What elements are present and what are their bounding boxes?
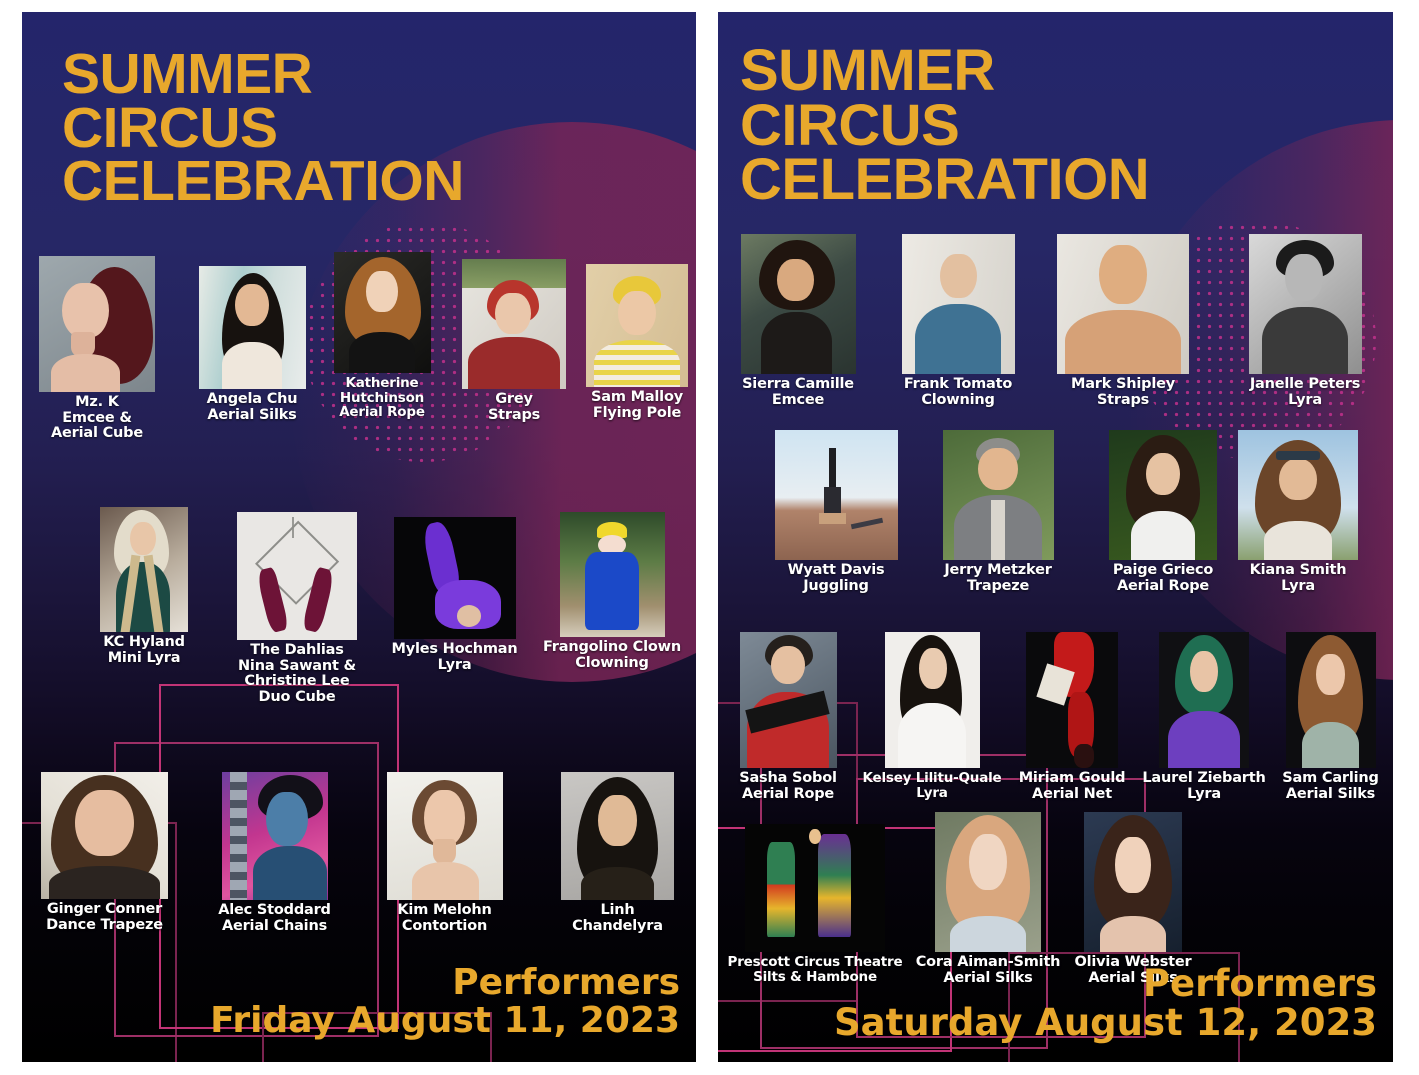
performer-card: Katherine Hutchinson Aerial Rope [302,252,462,420]
performer-name: Sierra Camille [742,376,854,392]
performer-photo [462,259,566,389]
poster-footer: Performers Friday August 11, 2023 [210,964,680,1040]
performer-photo [560,512,665,637]
portrait-art [745,824,885,952]
performer-photo [885,632,980,768]
performer-act: Juggling [803,578,869,594]
performer-name: Katherine Hutchinson [340,375,424,406]
portrait-art [222,772,328,900]
poster-title: SUMMER CIRCUS CELEBRATION [62,48,464,209]
portrait-art [237,512,357,640]
portrait-art [1026,632,1118,768]
performer-photo [745,824,885,952]
performer-name: Paige Grieco [1113,562,1213,578]
performer-card: Frank Tomato Clowning [888,234,1028,408]
portrait-art [1249,234,1362,374]
performer-caption: Frangolino Clown Clowning [543,640,681,671]
performer-caption: Kim Melohn Contortion [397,903,491,934]
performer-act: Dance Trapeze [46,917,163,933]
portrait-art [1109,430,1217,560]
performer-name: Sam Carling [1282,770,1378,786]
performer-act: Contortion [402,918,487,934]
performer-photo [935,812,1041,952]
performer-photo [237,512,357,640]
performer-photo [222,772,328,900]
performer-caption: Ginger Conner Dance Trapeze [46,902,163,933]
performer-act: Trapeze [967,578,1029,594]
performer-name: Wyatt Davis [788,562,885,578]
performer-photo [1238,430,1358,560]
portrait-art [1286,632,1376,768]
performer-card: Wyatt Davis Juggling [766,430,906,594]
performer-card: Laurel Ziebarth Lyra [1140,632,1268,802]
performer-card: Miriam Gould Aerial Net [1008,632,1136,802]
portrait-art [740,632,837,768]
performer-caption: Alec Stoddard Aerial Chains [218,903,330,934]
performer-card: Cora Aiman-Smith Aerial Silks [913,812,1063,986]
performer-act: Clowning [921,392,994,408]
performer-caption: Sam Malloy Flying Pole [591,390,683,421]
performer-act: Lyra [1288,392,1322,408]
performer-act: Emcee [772,392,824,408]
performer-card: Prescott Circus Theatre Silts & Hambone [726,824,904,984]
performer-card: Ginger Conner Dance Trapeze [37,772,172,933]
portrait-art [586,264,688,387]
performer-card: Jerry Metzker Trapeze [928,430,1068,594]
portrait-art [1238,430,1358,560]
performer-caption: Linh Chandelyra [572,903,663,934]
performer-photo [387,772,503,900]
performer-card: Grey Straps [454,259,574,423]
performer-photo [334,252,431,373]
portrait-art [39,256,155,392]
performer-card: Kim Melohn Contortion [377,772,512,934]
performer-act: Chandelyra [572,918,663,934]
performer-caption: Laurel Ziebarth Lyra [1142,771,1265,802]
performer-name: Mz. K [75,394,119,410]
performer-photo [199,266,306,389]
performer-caption: Wyatt Davis Juggling [788,563,885,594]
performer-photo [1084,812,1182,952]
performer-photo [1109,430,1217,560]
performer-caption: The Dahlias Nina Sawant & Christine Lee … [238,643,356,706]
performer-act: Aerial Rope [1117,578,1209,594]
portrait-art [1084,812,1182,952]
performer-name: Sasha Sobol [739,770,837,786]
performer-card: Linh Chandelyra [550,772,685,934]
performer-act: Aerial Net [1032,786,1112,802]
portrait-art [394,517,516,639]
performer-photo [394,517,516,639]
performer-caption: Sasha Sobol Aerial Rope [739,771,837,802]
performer-name: The Dahlias [250,642,343,658]
performer-act: Straps [488,407,540,423]
performer-name: Laurel Ziebarth [1142,770,1265,786]
performer-act: Aerial Chains [222,918,327,934]
performer-card: Mark Shipley Straps [1048,234,1198,408]
performer-name: Ginger Conner [47,901,162,917]
performer-act: Mini Lyra [108,650,181,666]
performer-photo [740,632,837,768]
friday-poster: SUMMER CIRCUS CELEBRATION Mz. K Emcee & … [22,12,696,1062]
portrait-art [41,772,168,899]
footer-performers-label: Performers [834,964,1377,1003]
performer-act: Aerial Rope [742,786,834,802]
performer-card: Janelle Peters Lyra [1235,234,1375,408]
performer-card: Kiana Smith Lyra [1228,430,1368,594]
saturday-poster: SUMMER CIRCUS CELEBRATION Sierra Camille… [718,12,1393,1062]
performer-caption: Sierra Camille Emcee [742,377,854,408]
performer-photo [39,256,155,392]
performer-caption: Janelle Peters Lyra [1250,377,1360,408]
performer-caption: Kelsey Lilitu-Quale Lyra [862,771,1001,800]
performer-photo [775,430,898,560]
performer-caption: Katherine Hutchinson Aerial Rope [302,376,462,420]
performer-name: Miriam Gould [1019,770,1126,786]
performer-card: Sam Malloy Flying Pole [577,264,696,421]
portrait-art [943,430,1054,560]
performer-name: Grey [495,391,533,407]
performer-name: Angela Chu [207,391,298,407]
portrait-art [387,772,503,900]
performer-name: Linh [600,902,634,918]
performer-card: Olivia Webster Aerial Silks [1063,812,1203,986]
performer-photo [586,264,688,387]
performer-name: Kim Melohn [397,902,491,918]
performer-caption: KC Hyland Mini Lyra [103,635,185,666]
performer-card: Alec Stoddard Aerial Chains [207,772,342,934]
portrait-art [902,234,1015,374]
portrait-art [741,234,856,374]
performer-card: The Dahlias Nina Sawant & Christine Lee … [227,512,367,706]
portrait-art [334,252,431,373]
performer-caption: Kiana Smith Lyra [1250,563,1347,594]
performer-name: Frank Tomato [904,376,1012,392]
performer-name: Mark Shipley [1071,376,1175,392]
performer-card: Sam Carling Aerial Silks [1268,632,1393,802]
performer-card: Paige Grieco Aerial Rope [1093,430,1233,594]
performer-photo [1249,234,1362,374]
portrait-art [561,772,674,900]
portrait-art [1159,632,1249,768]
performer-photo [1159,632,1249,768]
performer-act: Lyra [916,785,947,801]
footer-performers-label: Performers [210,964,680,1002]
portrait-art [100,507,188,632]
performer-act: Emcee & Aerial Cube [51,410,143,442]
performer-caption: Mark Shipley Straps [1071,377,1175,408]
performer-card: Angela Chu Aerial Silks [192,266,312,423]
performer-act: Aerial Rope [339,404,425,420]
portrait-art [775,430,898,560]
performer-card: Sierra Camille Emcee [728,234,868,408]
performer-act: Flying Pole [593,405,681,421]
performer-photo [902,234,1015,374]
performer-name: Janelle Peters [1250,376,1360,392]
poster-pair-canvas: SUMMER CIRCUS CELEBRATION Mz. K Emcee & … [0,0,1419,1075]
performer-photo [1026,632,1118,768]
performer-card: Kelsey Lilitu-Quale Lyra [858,632,1006,800]
performer-name: Kiana Smith [1250,562,1347,578]
performer-caption: Paige Grieco Aerial Rope [1113,563,1213,594]
performer-caption: Jerry Metzker Trapeze [944,563,1051,594]
portrait-art [199,266,306,389]
poster-footer: Performers Saturday August 12, 2023 [834,964,1377,1042]
performer-caption: Grey Straps [488,392,540,423]
performer-name: KC Hyland [103,634,185,650]
performer-name: Jerry Metzker [944,562,1051,578]
performer-caption: Frank Tomato Clowning [904,377,1012,408]
performer-card: KC Hyland Mini Lyra [84,507,204,666]
footer-date: Friday August 11, 2023 [210,1002,680,1040]
performer-photo [1057,234,1189,374]
portrait-art [935,812,1041,952]
performer-act: Lyra [438,657,472,673]
portrait-art [1057,234,1189,374]
performer-photo [41,772,168,899]
performer-act: Nina Sawant & Christine Lee Duo Cube [238,658,356,705]
performer-photo [561,772,674,900]
performer-caption: Myles Hochman Lyra [392,642,518,673]
performer-name: Alec Stoddard [218,902,330,918]
performer-card: Frangolino Clown Clowning [542,512,682,671]
performer-act: Lyra [1187,786,1221,802]
performer-photo [100,507,188,632]
performer-act: Lyra [1281,578,1315,594]
performer-act: Straps [1097,392,1149,408]
performer-act: Aerial Silks [207,407,296,423]
performer-photo [943,430,1054,560]
portrait-art [560,512,665,637]
performer-caption: Angela Chu Aerial Silks [207,392,298,423]
performer-card: Mz. K Emcee & Aerial Cube [37,256,157,442]
performer-act: Clowning [575,655,648,671]
performer-caption: Miriam Gould Aerial Net [1019,771,1126,802]
performer-caption: Sam Carling Aerial Silks [1282,771,1378,802]
performer-act: Aerial Silks [1286,786,1375,802]
performer-name: Frangolino Clown [543,639,681,655]
poster-title: SUMMER CIRCUS CELEBRATION [740,44,1149,208]
performer-caption: Mz. K Emcee & Aerial Cube [51,395,143,442]
performer-photo [1286,632,1376,768]
performer-name: Myles Hochman [392,641,518,657]
performer-card: Myles Hochman Lyra [382,517,527,673]
performer-card: Sasha Sobol Aerial Rope [728,632,848,802]
performer-name: Sam Malloy [591,389,683,405]
footer-date: Saturday August 12, 2023 [834,1003,1377,1042]
portrait-art [885,632,980,768]
portrait-art [462,259,566,389]
performer-photo [741,234,856,374]
